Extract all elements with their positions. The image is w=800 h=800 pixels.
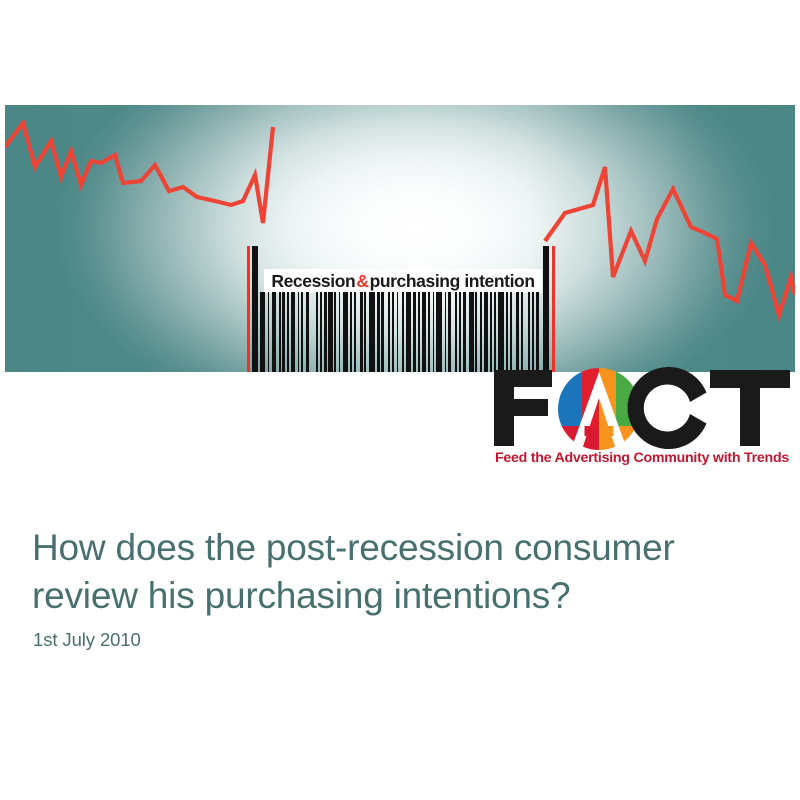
barcode-bar (268, 292, 270, 372)
barcode-bar (510, 292, 512, 372)
barcode-bar (298, 292, 300, 372)
barcode-bar (301, 292, 303, 372)
title-slide: Recession & purchasing intention (0, 0, 800, 800)
barcode-bar (436, 292, 442, 372)
page-title-line-1: How does the post-recession consumer (32, 527, 675, 568)
barcode-bar (369, 292, 376, 372)
barcode-bar (494, 292, 496, 372)
barcode-bar (260, 292, 265, 372)
barcode-bar (521, 292, 524, 372)
barcode-bar (381, 292, 384, 372)
barcode-bar (402, 292, 405, 372)
logo-disc-inner-orange (599, 388, 616, 428)
barcode-guard-right-red (552, 246, 555, 372)
barcode-bar (287, 292, 289, 372)
barcode-bar (377, 292, 380, 372)
barcode-bar (364, 292, 366, 372)
barcode-bar (397, 292, 399, 372)
barcode-bar (328, 292, 332, 372)
barcode-bar (272, 292, 276, 372)
barcode-bar (480, 292, 483, 372)
slide-date: 1st July 2010 (33, 629, 141, 651)
fact-logo-tagline: Feed the Advertising Community with Tren… (488, 450, 796, 466)
barcode-bar (528, 292, 530, 372)
barcode-bar (279, 292, 281, 372)
recession-banner-image: Recession & purchasing intention (5, 105, 795, 372)
barcode-bar (320, 292, 322, 372)
logo-disc-inner-red (582, 388, 599, 428)
barcode-bar (445, 292, 447, 372)
barcode-bar (350, 292, 353, 372)
barcode-bar (324, 292, 327, 372)
barcode-bar (282, 292, 285, 372)
barcode-guard-left-red (247, 246, 250, 372)
barcode-bar (506, 292, 508, 372)
page-title: How does the post-recession consumer rev… (32, 524, 762, 620)
barcode-bar (455, 292, 457, 372)
page-title-line-2: review his purchasing intentions? (32, 572, 762, 620)
barcode-bar (388, 292, 390, 372)
fact-logo-mark (488, 366, 796, 450)
trend-line-right (545, 167, 795, 315)
barcode-bar (428, 292, 430, 372)
barcode-end-bar-right (543, 246, 549, 372)
barcode-bar (484, 292, 488, 372)
barcode-bar (392, 292, 395, 372)
barcode-bar (413, 292, 416, 372)
barcode-bar (463, 292, 466, 372)
barcode-bar (516, 292, 519, 372)
barcode-bar (490, 292, 493, 372)
barcode-bar (354, 292, 356, 372)
barcode-bar (469, 292, 474, 372)
barcode-bar (536, 292, 539, 372)
barcode-bar (532, 292, 535, 372)
barcode-graphic: Recession & purchasing intention (246, 269, 560, 372)
barcode-bar (343, 292, 348, 372)
barcode-bar (360, 292, 363, 372)
barcode-caption-ampersand: & (355, 271, 369, 292)
barcode-bar (316, 292, 319, 372)
fact-logo: Feed the Advertising Community with Tren… (488, 366, 796, 478)
barcode-bar (306, 292, 309, 372)
barcode-bar (406, 292, 411, 372)
barcode-caption-suffix: purchasing intention (370, 271, 535, 292)
barcode-end-bar-left (252, 246, 258, 372)
barcode-bar (448, 292, 451, 372)
barcode-bar (334, 292, 336, 372)
barcode-bar (498, 292, 504, 372)
barcode-bar (459, 292, 461, 372)
barcode-bar (418, 292, 420, 372)
barcode-bar (291, 292, 295, 372)
barcode-bar (339, 292, 341, 372)
barcode-bar (475, 292, 477, 372)
barcode-bar (433, 292, 435, 372)
barcode-bars (246, 292, 560, 372)
barcode-bar (422, 292, 426, 372)
logo-disc-lower-red (558, 426, 599, 450)
trend-line-left (5, 123, 273, 223)
barcode-caption: Recession & purchasing intention (264, 269, 542, 293)
logo-letter-c (628, 367, 707, 449)
logo-letter-t (710, 370, 790, 446)
barcode-caption-prefix: Recession (271, 271, 355, 292)
logo-letter-f (494, 370, 552, 446)
